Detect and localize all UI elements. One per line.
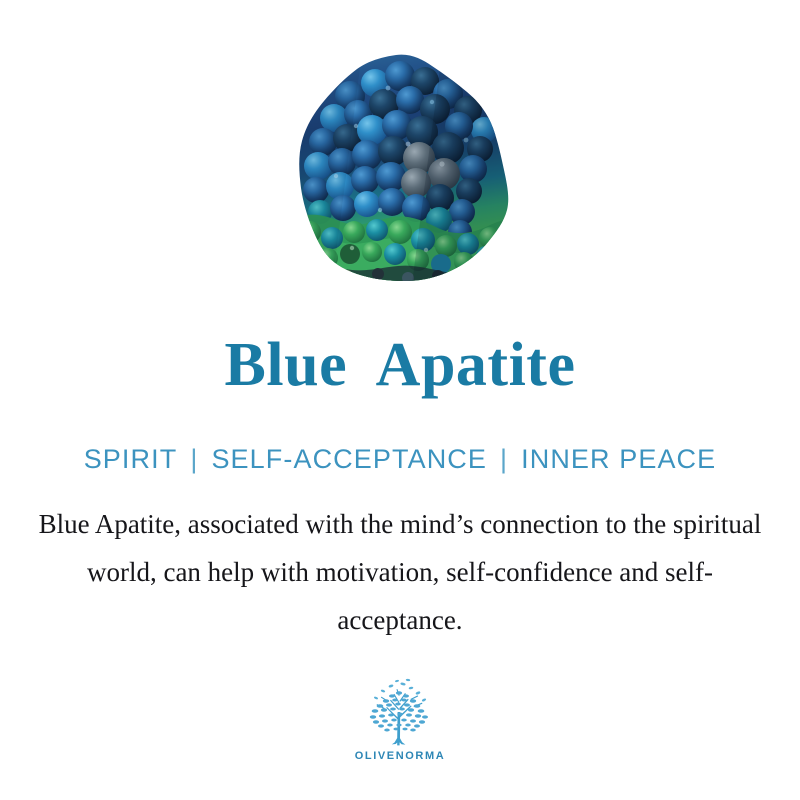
crystal-info-card: Blue Apatite SPIRIT | SELF-ACCEPTANCE | … [0,0,800,800]
keyword-separator: | [487,444,521,475]
keyword-spirit: SPIRIT [84,444,178,475]
keyword-self-acceptance: SELF-ACCEPTANCE [211,444,487,475]
brand-name: OLIVENORMA [355,750,446,762]
specimen-image [292,52,516,284]
page-title: Blue Apatite [0,333,800,398]
keyword-list: SPIRIT | SELF-ACCEPTANCE | INNER PEACE [0,444,800,475]
blue-apatite-mineral-specimen-icon [292,52,516,284]
keyword-separator: | [177,444,211,475]
keyword-inner-peace: INNER PEACE [521,444,716,475]
description-text: Blue Apatite, associated with the mind’s… [30,500,770,644]
olive-tree-logo-icon [361,676,439,748]
brand-logo: OLIVENORMA [0,676,800,762]
